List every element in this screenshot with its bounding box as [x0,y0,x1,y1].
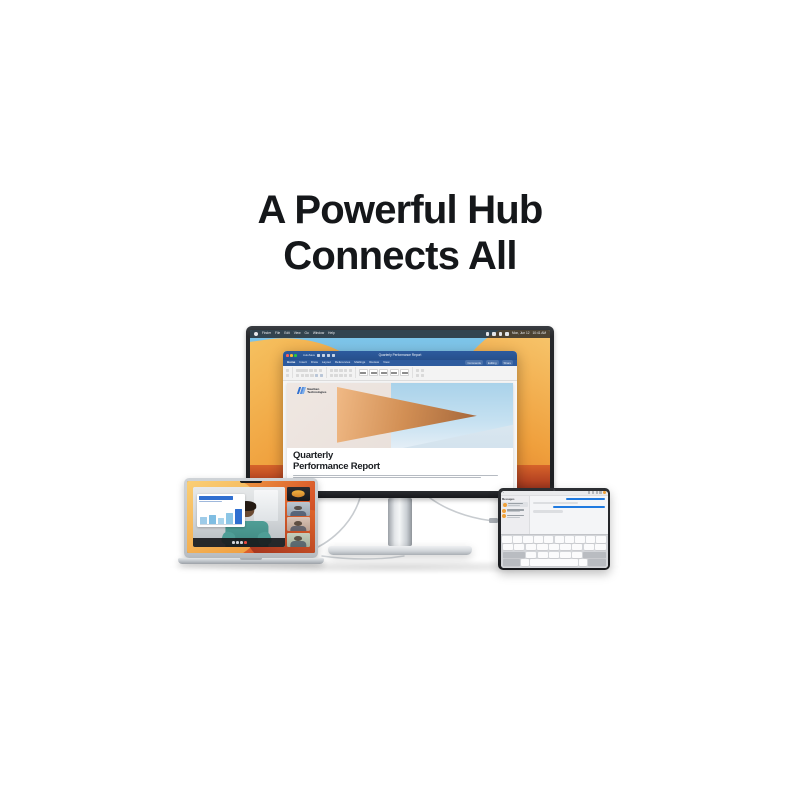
shrink-font-icon[interactable] [319,369,322,372]
tablet-screen[interactable]: Messages [501,491,608,568]
key [549,552,559,559]
chart-bar [200,517,207,524]
active-speaker-view[interactable] [193,487,285,547]
monitor-stand-base [328,546,472,555]
key [572,544,582,551]
emoji-key[interactable] [521,559,529,566]
key [595,544,605,551]
key [565,536,574,543]
monitor-stand-neck [388,498,412,546]
keyboard-row[interactable] [503,536,606,543]
key [523,536,532,543]
tab-review[interactable]: Review [369,361,379,364]
message-bubble-outgoing [553,506,605,509]
macos-menu-bar[interactable]: Finder File Edit View Go Window Help Mon… [250,330,550,338]
report-heading-line-2: Performance Report [293,462,507,473]
underline-icon[interactable] [305,374,308,377]
key [596,536,605,543]
window-title-bar[interactable]: AutoSave Quarterly Performance Report [283,351,517,360]
list-item[interactable] [502,502,528,507]
key [526,552,536,559]
indent-decrease-icon[interactable] [344,369,347,372]
window-title: Quarterly Performance Report [283,354,517,357]
strikethrough-icon[interactable] [310,374,313,377]
align-right-icon[interactable] [339,374,342,377]
key [503,544,513,551]
menu-item-go[interactable]: Go [305,332,309,335]
tablet-frame: Messages [498,488,610,570]
shared-slide[interactable] [197,494,245,527]
key [544,536,553,543]
shared-slide-subtitle [199,501,222,502]
keyboard-row[interactable] [503,552,606,559]
indent-increase-icon[interactable] [349,369,352,372]
font-size-input[interactable] [309,369,312,372]
toolbar-actions[interactable] [588,491,606,493]
avatar [502,514,506,518]
tab-references[interactable]: References [335,361,350,364]
highlight-icon[interactable] [315,374,318,377]
battery-icon[interactable] [486,332,490,336]
key [586,536,595,543]
paragraph-group[interactable] [330,369,353,377]
word-document-window[interactable]: AutoSave Quarterly Performance Report Ho… [283,351,517,491]
tab-home[interactable]: Home [287,361,295,364]
laptop-base [178,558,324,564]
key [526,544,536,551]
style-heading-2[interactable] [390,369,399,376]
dictate-icon[interactable] [416,374,419,377]
key [538,552,548,559]
participant-tile-2[interactable] [287,517,310,531]
key [584,544,594,551]
key [572,552,582,559]
style-no-spacing[interactable] [369,369,378,376]
message-bubble-incoming [533,502,578,505]
menu-item-file[interactable]: File [275,332,280,335]
page-title: A Powerful Hub Connects All [0,188,800,279]
ribbon-toolbar[interactable] [283,366,517,381]
document-page[interactable]: NewGen Technologies Quarterly Performanc… [287,383,513,491]
chart-bar [209,515,216,525]
key [534,536,543,543]
participant-tile-3[interactable] [287,533,310,547]
key [555,536,564,543]
headline-line-2: Connects All [0,234,800,280]
end-call-icon[interactable] [244,541,247,544]
avatar [503,503,507,507]
font-color-icon[interactable] [320,374,323,377]
style-heading-1[interactable] [379,369,388,376]
space-key[interactable] [530,559,578,566]
chart-bar [226,513,233,524]
editor-icon[interactable] [421,374,424,377]
avatar[interactable] [603,491,605,493]
headline-line-1: A Powerful Hub [257,188,542,232]
chart-bar [218,518,225,524]
clipboard-group[interactable] [286,369,289,377]
editing-group[interactable] [416,369,424,377]
brand-name-line-2: Technologies [307,391,326,394]
key [549,544,559,551]
emoji-icon[interactable] [596,491,598,493]
menu-bar-status-area[interactable]: Mon, Jun 12 10:41 AM [486,332,546,336]
document-canvas[interactable]: NewGen Technologies Quarterly Performanc… [283,381,517,491]
shared-slide-title [199,496,233,500]
find-icon[interactable] [416,369,419,372]
chart-bar [235,509,242,525]
participant-tile-speaker[interactable] [287,487,310,501]
key [502,536,511,543]
paste-icon[interactable] [286,369,289,372]
menu-bar-clock[interactable]: 10:41 AM [533,332,546,335]
back-icon[interactable] [503,492,505,494]
hero-canvas: A Powerful Hub Connects All Finder [0,0,800,800]
bold-icon[interactable] [296,374,299,377]
messages-layout[interactable]: Messages [501,496,608,534]
period-key[interactable] [579,559,587,566]
tab-layout[interactable]: Layout [322,361,331,364]
wifi-icon[interactable] [492,332,496,336]
share-screen-icon[interactable] [240,541,243,544]
bullets-icon[interactable] [330,369,333,372]
line-spacing-icon[interactable] [349,374,352,377]
attach-icon[interactable] [592,491,594,493]
on-screen-keyboard[interactable] [501,534,608,568]
participant-strip[interactable] [287,487,310,547]
font-name-input[interactable] [296,369,308,372]
font-group[interactable] [296,369,323,377]
key [560,552,570,559]
message-bubble-outgoing [566,498,605,501]
laptop-screen[interactable] [187,481,315,553]
message-thread[interactable] [530,496,607,534]
key [537,544,547,551]
grow-font-icon[interactable] [314,369,317,372]
monitor-screen: Finder File Edit View Go Window Help Mon… [250,330,550,491]
logo-mark-icon [298,387,305,394]
mic-icon[interactable] [232,541,235,544]
menu-item-help[interactable]: Help [328,332,335,335]
format-icon[interactable] [588,491,590,493]
editing-button[interactable]: Editing [486,360,499,365]
conversation-list[interactable]: Messages [501,496,531,534]
numbers-key[interactable] [503,559,520,566]
key [575,536,584,543]
comments-button[interactable]: Comments [465,360,483,365]
avatar [502,509,506,513]
laptop-open-notch [240,558,262,560]
list-item[interactable] [502,514,528,518]
styles-group[interactable] [359,369,410,376]
tab-insert[interactable]: Insert [299,361,307,364]
tab-view[interactable]: View [383,361,389,364]
replace-icon[interactable] [421,369,424,372]
align-center-icon[interactable] [334,374,337,377]
monitor-bezel: Finder File Edit View Go Window Help Mon… [246,326,554,498]
ribbon-actions[interactable]: Comments Editing Share [465,360,513,365]
menu-item-view[interactable]: View [294,332,301,335]
apple-icon[interactable] [254,332,258,336]
share-button[interactable]: Share [502,360,513,365]
participant-tile-1[interactable] [287,502,310,516]
style-normal[interactable] [359,369,368,376]
report-heading-line-1: Quarterly [293,451,507,462]
menu-item-window[interactable]: Window [313,332,324,335]
key [560,544,570,551]
call-control-bar[interactable] [193,538,285,546]
return-key[interactable] [588,559,605,566]
laptop-device [178,478,324,570]
menu-item-edit[interactable]: Edit [284,332,290,335]
backspace-key[interactable] [583,552,605,559]
justify-icon[interactable] [344,374,347,377]
tablet-device: Messages [498,488,610,570]
laptop-lid [184,478,318,558]
avatar [292,490,305,498]
link-icon[interactable] [599,491,601,493]
multilevel-icon[interactable] [339,369,342,372]
key [514,544,524,551]
tab-draw[interactable]: Draw [311,361,318,364]
tab-mailings[interactable]: Mailings [354,361,365,364]
search-icon[interactable] [499,332,503,336]
menu-item-finder[interactable]: Finder [262,332,271,335]
report-body-paragraph [293,475,507,478]
report-cover-artwork: NewGen Technologies [287,383,513,448]
shared-slide-chart [200,508,242,525]
align-left-icon[interactable] [330,374,333,377]
message-bubble-incoming [533,510,563,513]
numbering-icon[interactable] [334,369,337,372]
sidebar-title: Messages [502,498,528,501]
list-item[interactable] [502,509,528,513]
keyboard-row[interactable] [503,559,606,566]
keyboard-row[interactable] [503,544,606,551]
external-display: Finder File Edit View Go Window Help Mon… [246,326,554,498]
italic-icon[interactable] [301,374,304,377]
camera-icon[interactable] [236,541,239,544]
video-call-window[interactable] [193,487,310,547]
key [513,536,522,543]
menu-bar-date[interactable]: Mon, Jun 12 [512,332,530,335]
copy-icon[interactable] [286,374,289,377]
shift-key[interactable] [503,552,525,559]
control-center-icon[interactable] [505,332,509,336]
style-title[interactable] [400,369,409,376]
company-logo: NewGen Technologies [298,387,326,394]
